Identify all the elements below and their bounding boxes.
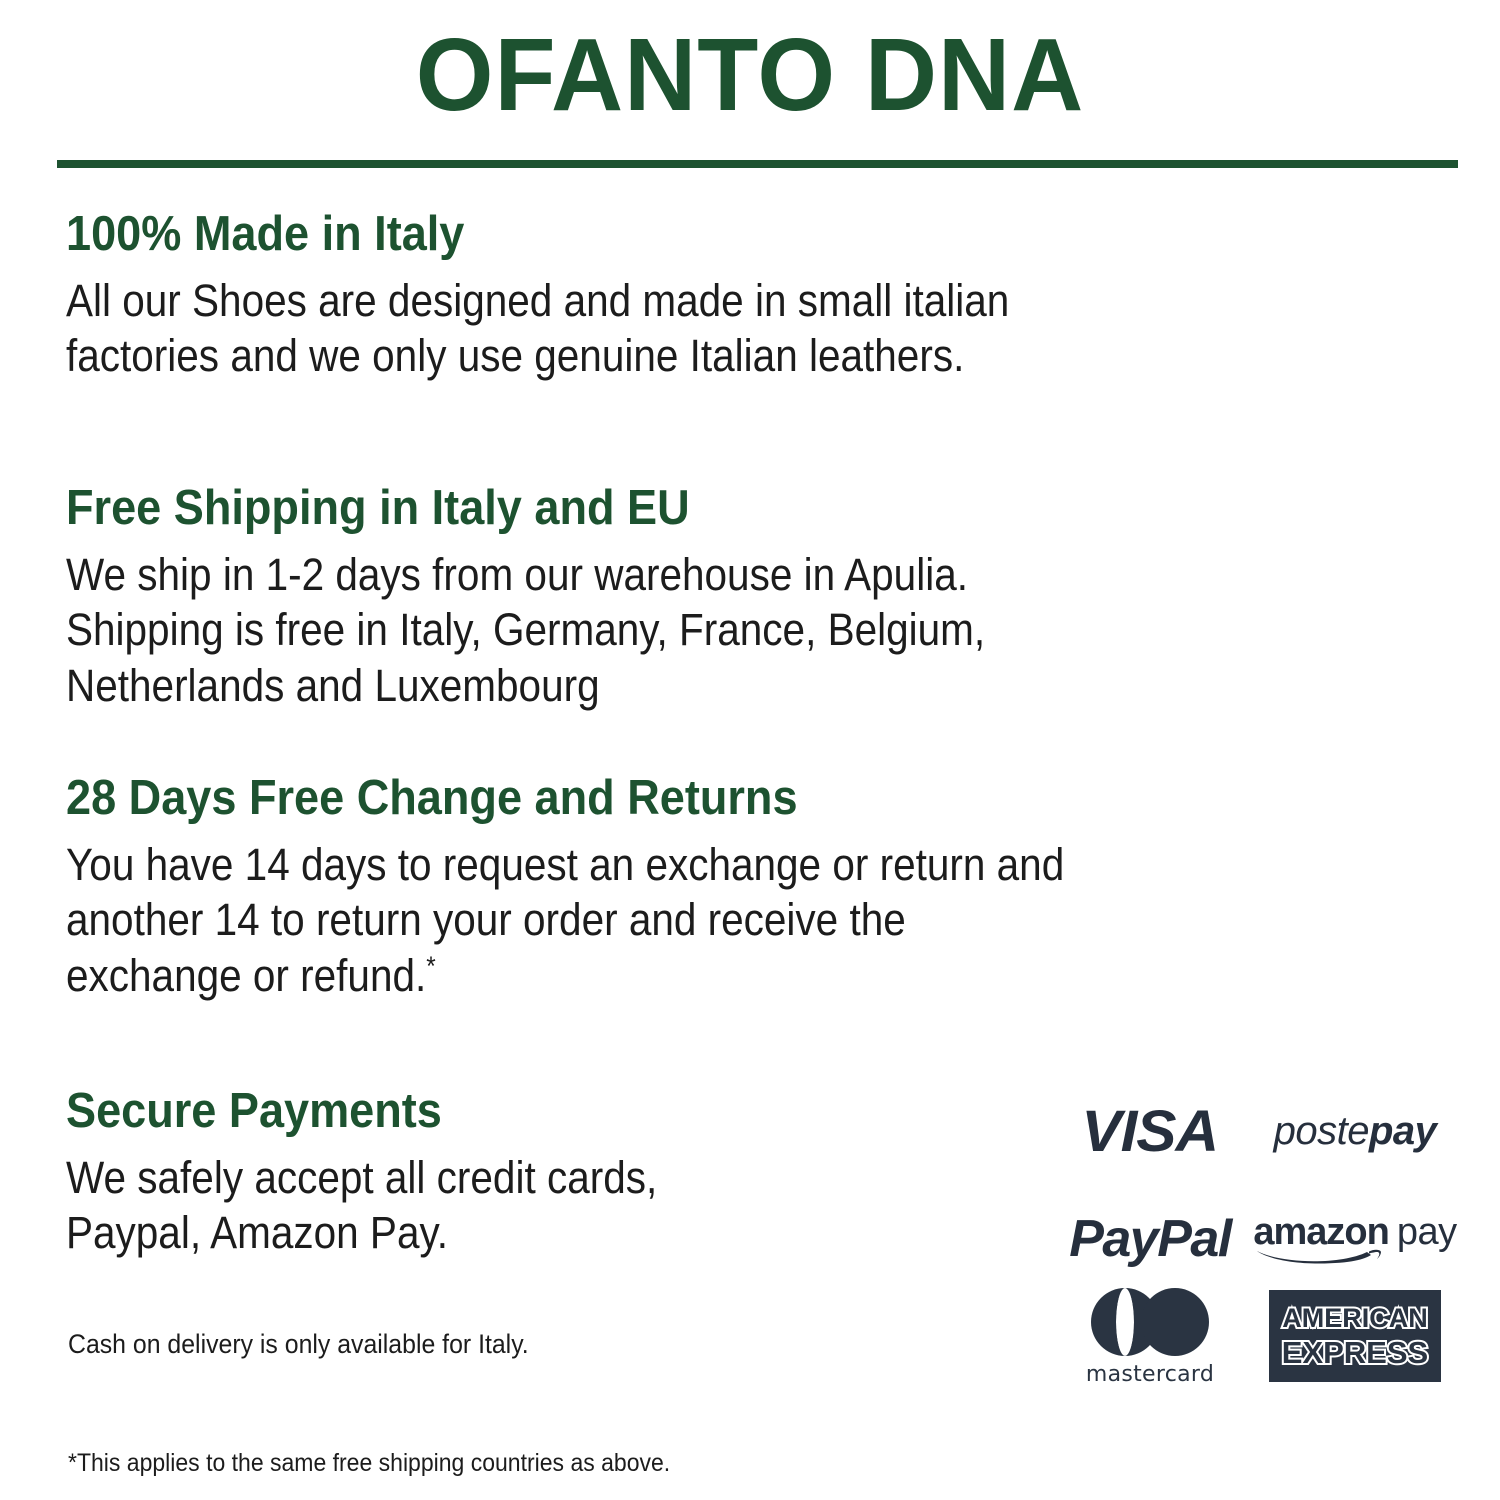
section-free-shipping: Free Shipping in Italy and EU We ship in…	[66, 482, 1087, 713]
amazon-label: amazon	[1253, 1211, 1388, 1253]
amex-label-line2: EXPRESS	[1282, 1337, 1428, 1368]
postepay-icon: postepay	[1274, 1109, 1437, 1154]
visa-icon: VISA	[1082, 1098, 1219, 1165]
payment-row-1: VISA postepay	[1050, 1088, 1460, 1174]
section-body-returns: You have 14 days to request an exchange …	[66, 837, 1064, 1003]
mastercard-circle-right	[1141, 1288, 1209, 1356]
section-made-in-italy: 100% Made in Italy All our Shoes are des…	[66, 208, 1114, 384]
payment-row-2: PayPal amazonpay	[1050, 1196, 1460, 1282]
mastercard-circle-overlap	[1116, 1288, 1134, 1356]
section-body-made-in-italy: All our Shoes are designed and made in s…	[66, 273, 1009, 384]
postepay-label-bold: pay	[1369, 1109, 1436, 1153]
amazon-pay-label: pay	[1397, 1211, 1457, 1253]
page-title: OFANTO DNA	[23, 18, 1478, 131]
visa-logo-cell: VISA	[1050, 1088, 1250, 1174]
amazon-smile-icon	[1255, 1248, 1383, 1264]
postepay-label-light: poste	[1274, 1109, 1369, 1153]
payment-methods-group: VISA postepay PayPal amazonpay	[1050, 1088, 1460, 1408]
mastercard-logo-cell: mastercard	[1050, 1293, 1250, 1379]
mastercard-circles	[1091, 1288, 1209, 1356]
section-returns: 28 Days Free Change and Returns You have…	[66, 772, 1175, 1003]
amazon-pay-logo-cell: amazonpay	[1250, 1196, 1460, 1282]
paypal-logo-cell: PayPal	[1050, 1196, 1250, 1282]
returns-footnote-marker: *	[426, 951, 435, 981]
postepay-logo-cell: postepay	[1250, 1088, 1460, 1174]
section-title-free-shipping: Free Shipping in Italy and EU	[66, 482, 1006, 535]
section-body-secure-payments: We safely accept all credit cards, Paypa…	[66, 1150, 657, 1261]
section-title-made-in-italy: 100% Made in Italy	[66, 208, 1030, 261]
section-title-secure-payments: Secure Payments	[66, 1085, 670, 1138]
amex-label-line1: AMERICAN	[1282, 1305, 1428, 1332]
section-secure-payments: Secure Payments We safely accept all cre…	[66, 1085, 723, 1261]
note-footnote: *This applies to the same free shipping …	[68, 1448, 670, 1479]
note-cash-on-delivery: Cash on delivery is only available for I…	[68, 1328, 529, 1362]
ofanto-dna-info-panel: OFANTO DNA 100% Made in Italy All our Sh…	[0, 0, 1500, 1500]
section-title-returns: 28 Days Free Change and Returns	[66, 772, 1086, 825]
payment-row-3: mastercard AMERICAN EXPRESS	[1050, 1293, 1460, 1379]
header-divider	[57, 160, 1458, 168]
mastercard-label: mastercard	[1085, 1362, 1215, 1387]
section-body-free-shipping: We ship in 1-2 days from our warehouse i…	[66, 547, 985, 713]
mastercard-icon: mastercard	[1085, 1288, 1215, 1384]
amazon-pay-icon: amazonpay	[1253, 1213, 1456, 1265]
amex-logo-cell: AMERICAN EXPRESS	[1250, 1293, 1460, 1379]
american-express-icon: AMERICAN EXPRESS	[1269, 1290, 1441, 1382]
paypal-icon: PayPal	[1069, 1209, 1231, 1269]
section-body-returns-text: You have 14 days to request an exchange …	[66, 839, 1064, 1001]
